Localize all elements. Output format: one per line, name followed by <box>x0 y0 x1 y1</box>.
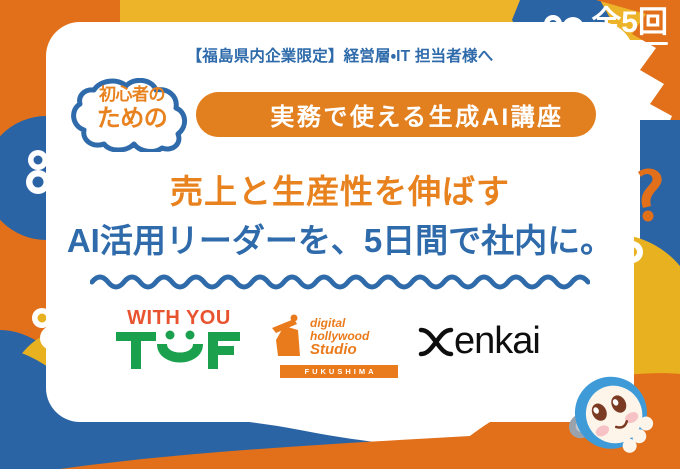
logo-dhs-location: FUKUSHIMA <box>280 365 398 378</box>
wave-divider <box>90 270 590 292</box>
course-title-pill: 実務で使える生成AI講座 <box>196 92 596 137</box>
logo-xenkai-word: enkai <box>454 322 540 360</box>
mascot-character <box>560 359 670 469</box>
headline-line-2: AI活用リーダーを、5日間で社内に。 <box>46 214 634 262</box>
logo-dhs-line-1: digital <box>310 316 346 330</box>
promotional-banner: 【福島県内企業限定】経営層・IT 担当者様へ 初心者の ための 実務で使える生成… <box>0 0 680 469</box>
logo-tuf: WITH YOU <box>104 308 254 374</box>
logo-dhs-line-3: Studio <box>310 341 357 358</box>
logo-tuf-tagline: WITH YOU <box>104 308 254 328</box>
xenkai-x-icon <box>418 325 454 357</box>
speech-bubble: 初心者の ための <box>56 78 208 152</box>
logo-xenkai: enkai <box>418 322 598 360</box>
logo-tuf-mark <box>104 330 254 374</box>
logo-digital-hollywood-studio: digital hollywood Studio FUKUSHIMA <box>264 314 398 378</box>
banner-content: 【福島県内企業限定】経営層・IT 担当者様へ 初心者の ための 実務で使える生成… <box>46 22 634 422</box>
title-row: 初心者の ための 実務で使える生成AI講座 <box>46 84 634 150</box>
logo-row: WITH YOU <box>46 300 634 386</box>
headline-line-1: 売上と生産性を伸ばす <box>46 165 634 213</box>
eyebrow-text: 【福島県内企業限定】経営層・IT 担当者様へ <box>46 44 634 66</box>
badge-underline <box>591 42 668 45</box>
session-count-badge: 全5回 <box>591 8 668 45</box>
session-count-label: 全5回 <box>591 8 668 38</box>
